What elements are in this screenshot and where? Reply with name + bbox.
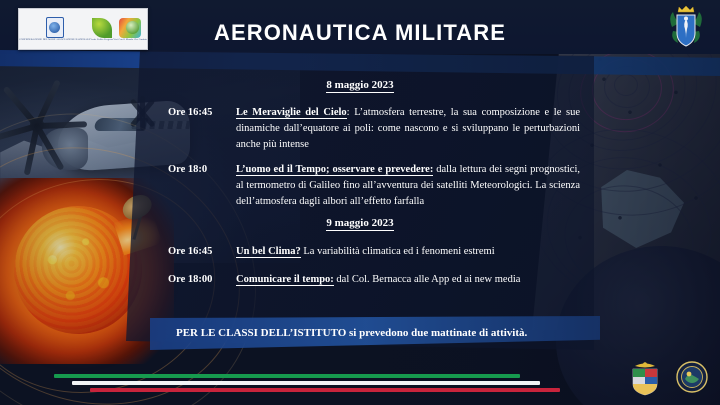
session-row: Ore 18:00 Comunicare il tempo: dal Col. …: [168, 272, 580, 288]
session-description: L’uomo ed il Tempo; osservare e preveder…: [236, 162, 580, 209]
session-time: Ore 18:00: [168, 272, 236, 288]
session-time: Ore 16:45: [168, 244, 236, 260]
date-heading-day2: 9 maggio 2023: [0, 217, 720, 229]
tricolor-stripe-green: [54, 374, 520, 378]
meteorological-service-seal-icon: [676, 361, 708, 393]
session-title: L’uomo ed il Tempo; osservare e preveder…: [236, 164, 433, 176]
session-title: Comunicare il tempo:: [236, 274, 334, 286]
session-time: Ore 16:45: [168, 105, 236, 152]
session-text: La variabilità climatica ed i fenomeni e…: [301, 246, 495, 257]
date-heading-day2-text: 9 maggio 2023: [326, 217, 393, 231]
presentation-slide: CONFEDERAZIONE DEL MARE ASSOCIAZIONE NAZ…: [0, 0, 720, 405]
session-time: Ore 18:0: [168, 162, 236, 209]
programme-content: 8 maggio 2023 Ore 16:45 Le Meraviglie de…: [0, 0, 720, 405]
air-force-coat-of-arms-icon: [628, 358, 662, 396]
session-row: Ore 16:45 Un bel Clima? La variabilità c…: [168, 244, 580, 260]
session-row: Ore 18:0 L’uomo ed il Tempo; osservare e…: [168, 162, 580, 209]
session-description: Comunicare il tempo: dal Col. Bernacca a…: [236, 272, 580, 288]
tricolor-stripe-red: [90, 388, 560, 392]
session-text: dal Col. Bernacca alle App ed ai new med…: [334, 274, 521, 285]
session-title: Le Meraviglie del Cielo: [236, 107, 347, 119]
footer-emblems: [598, 357, 708, 397]
session-description: Un bel Clima? La variabilità climatica e…: [236, 244, 580, 260]
session-description: Le Meraviglie del Cielo: L’atmosfera ter…: [236, 105, 580, 152]
tricolor-stripe-white: [72, 381, 540, 385]
footer-note-strong: PER LE CLASSI DELL’ISTITUTO: [176, 327, 346, 339]
session-row: Ore 16:45 Le Meraviglie del Cielo: L’atm…: [168, 105, 580, 152]
footer-note: PER LE CLASSI DELL’ISTITUTO si prevedono…: [176, 327, 606, 339]
session-title: Un bel Clima?: [236, 246, 301, 258]
date-heading-day1: 8 maggio 2023: [0, 79, 720, 91]
date-heading-day1-text: 8 maggio 2023: [326, 79, 393, 93]
footer-note-rest: si prevedono due mattinate di attività.: [346, 327, 527, 339]
